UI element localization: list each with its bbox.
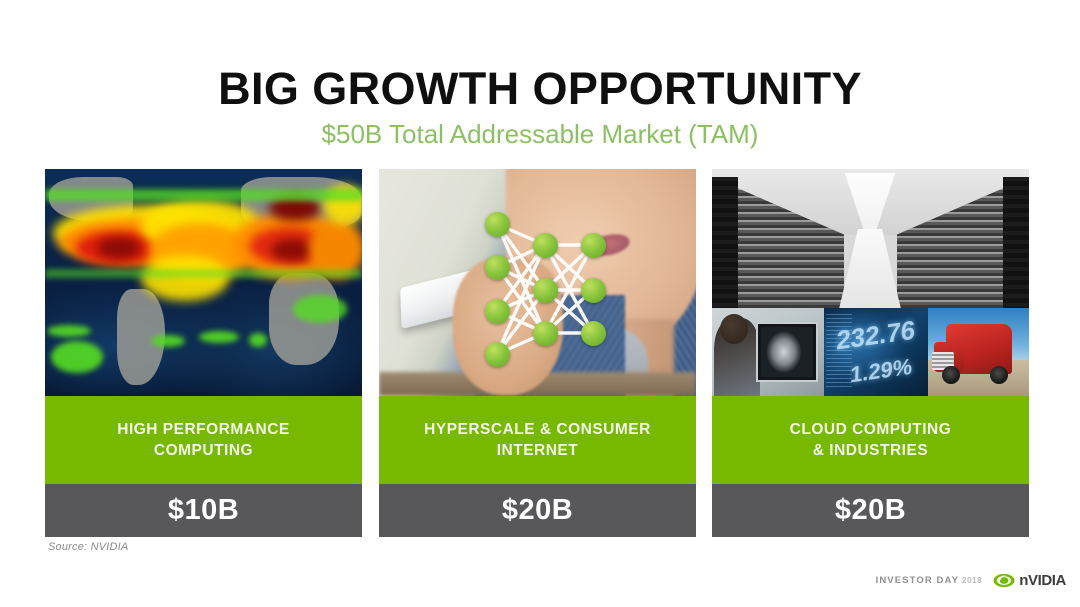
card-label: CLOUD COMPUTING & INDUSTRIES [712, 396, 1029, 484]
tam-card-high-performance-computing[interactable]: HIGH PERFORMANCE COMPUTING $10B [45, 169, 362, 537]
investor-day-year: 2018 [962, 576, 982, 585]
investor-day-label: INVESTOR DAY2018 [876, 575, 983, 586]
card-label: HIGH PERFORMANCE COMPUTING [45, 396, 362, 484]
green-blob-south-africa [249, 333, 267, 347]
global-climate-heatmap-image [45, 169, 362, 396]
medical-monitor [756, 322, 818, 382]
neural-node [533, 233, 558, 258]
card-label-line-1: HYPERSCALE & CONSUMER [424, 419, 651, 440]
investor-day-text: INVESTOR DAY [876, 575, 959, 586]
neural-node [533, 278, 558, 303]
nvidia-eye-logo [993, 573, 1015, 588]
green-blob-southwest-1 [47, 325, 91, 337]
voice-assistant-neural-network-image [379, 169, 696, 396]
neural-node [581, 278, 606, 303]
card-label: HYPERSCALE & CONSUMER INTERNET [379, 396, 696, 484]
neural-node [581, 321, 606, 346]
card-label-line-2: COMPUTING [117, 440, 289, 461]
clinician-head [720, 314, 748, 344]
card-value: $10B [45, 484, 362, 537]
data-center-industries-composite-image: 232.76 1.29% [712, 169, 1029, 396]
heat-blob-darkred-atlantic [97, 237, 141, 259]
page-subtitle: $50B Total Addressable Market (TAM) [0, 118, 1080, 150]
card-value: $20B [379, 484, 696, 537]
neural-node [485, 255, 510, 280]
title-block: BIG GROWTH OPPORTUNITY $50B Total Addres… [0, 64, 1080, 150]
neural-node [581, 233, 606, 258]
financial-data-tile: 232.76 1.29% [824, 308, 928, 396]
green-blob-south-indian [199, 331, 239, 343]
tam-card-hyperscale-consumer-internet[interactable]: HYPERSCALE & CONSUMER INTERNET $20B [379, 169, 696, 537]
card-value: $20B [712, 484, 1029, 537]
truck-wheel [990, 366, 1008, 384]
card-label-line-2: INTERNET [424, 440, 651, 461]
green-band-equator [45, 269, 362, 278]
card-label-line-1: HIGH PERFORMANCE [117, 419, 289, 440]
green-blob-southwest-2 [51, 341, 103, 373]
page-title: BIG GROWTH OPPORTUNITY [0, 64, 1080, 114]
medical-imaging-tile [712, 308, 824, 396]
source-note: Source: NVIDIA [48, 541, 128, 553]
neural-node [485, 342, 510, 367]
green-blob-australia [293, 295, 347, 323]
green-blob-south-atlantic [151, 335, 185, 347]
nvidia-logo: nVIDIA [993, 572, 1066, 589]
tam-card-cloud-computing-industries[interactable]: 232.76 1.29% CLOUD COMPUTING & INDUSTRIE… [712, 169, 1029, 537]
green-band-north [45, 189, 362, 201]
nvidia-wordmark: nVIDIA [1019, 572, 1066, 589]
neural-node [485, 212, 510, 237]
brand-bar: INVESTOR DAY2018 nVIDIA [876, 572, 1066, 589]
card-label-line-2: & INDUSTRIES [790, 440, 952, 461]
card-label-line-1: CLOUD COMPUTING [790, 419, 952, 440]
truck-wheel [942, 366, 960, 384]
neural-node [485, 299, 510, 324]
logistics-truck-tile [928, 308, 1029, 396]
brain-scan-image [761, 327, 813, 377]
slide-canvas: BIG GROWTH OPPORTUNITY $50B Total Addres… [0, 0, 1080, 607]
heat-blob-yellow-southamerica [141, 255, 229, 301]
neural-node [533, 321, 558, 346]
